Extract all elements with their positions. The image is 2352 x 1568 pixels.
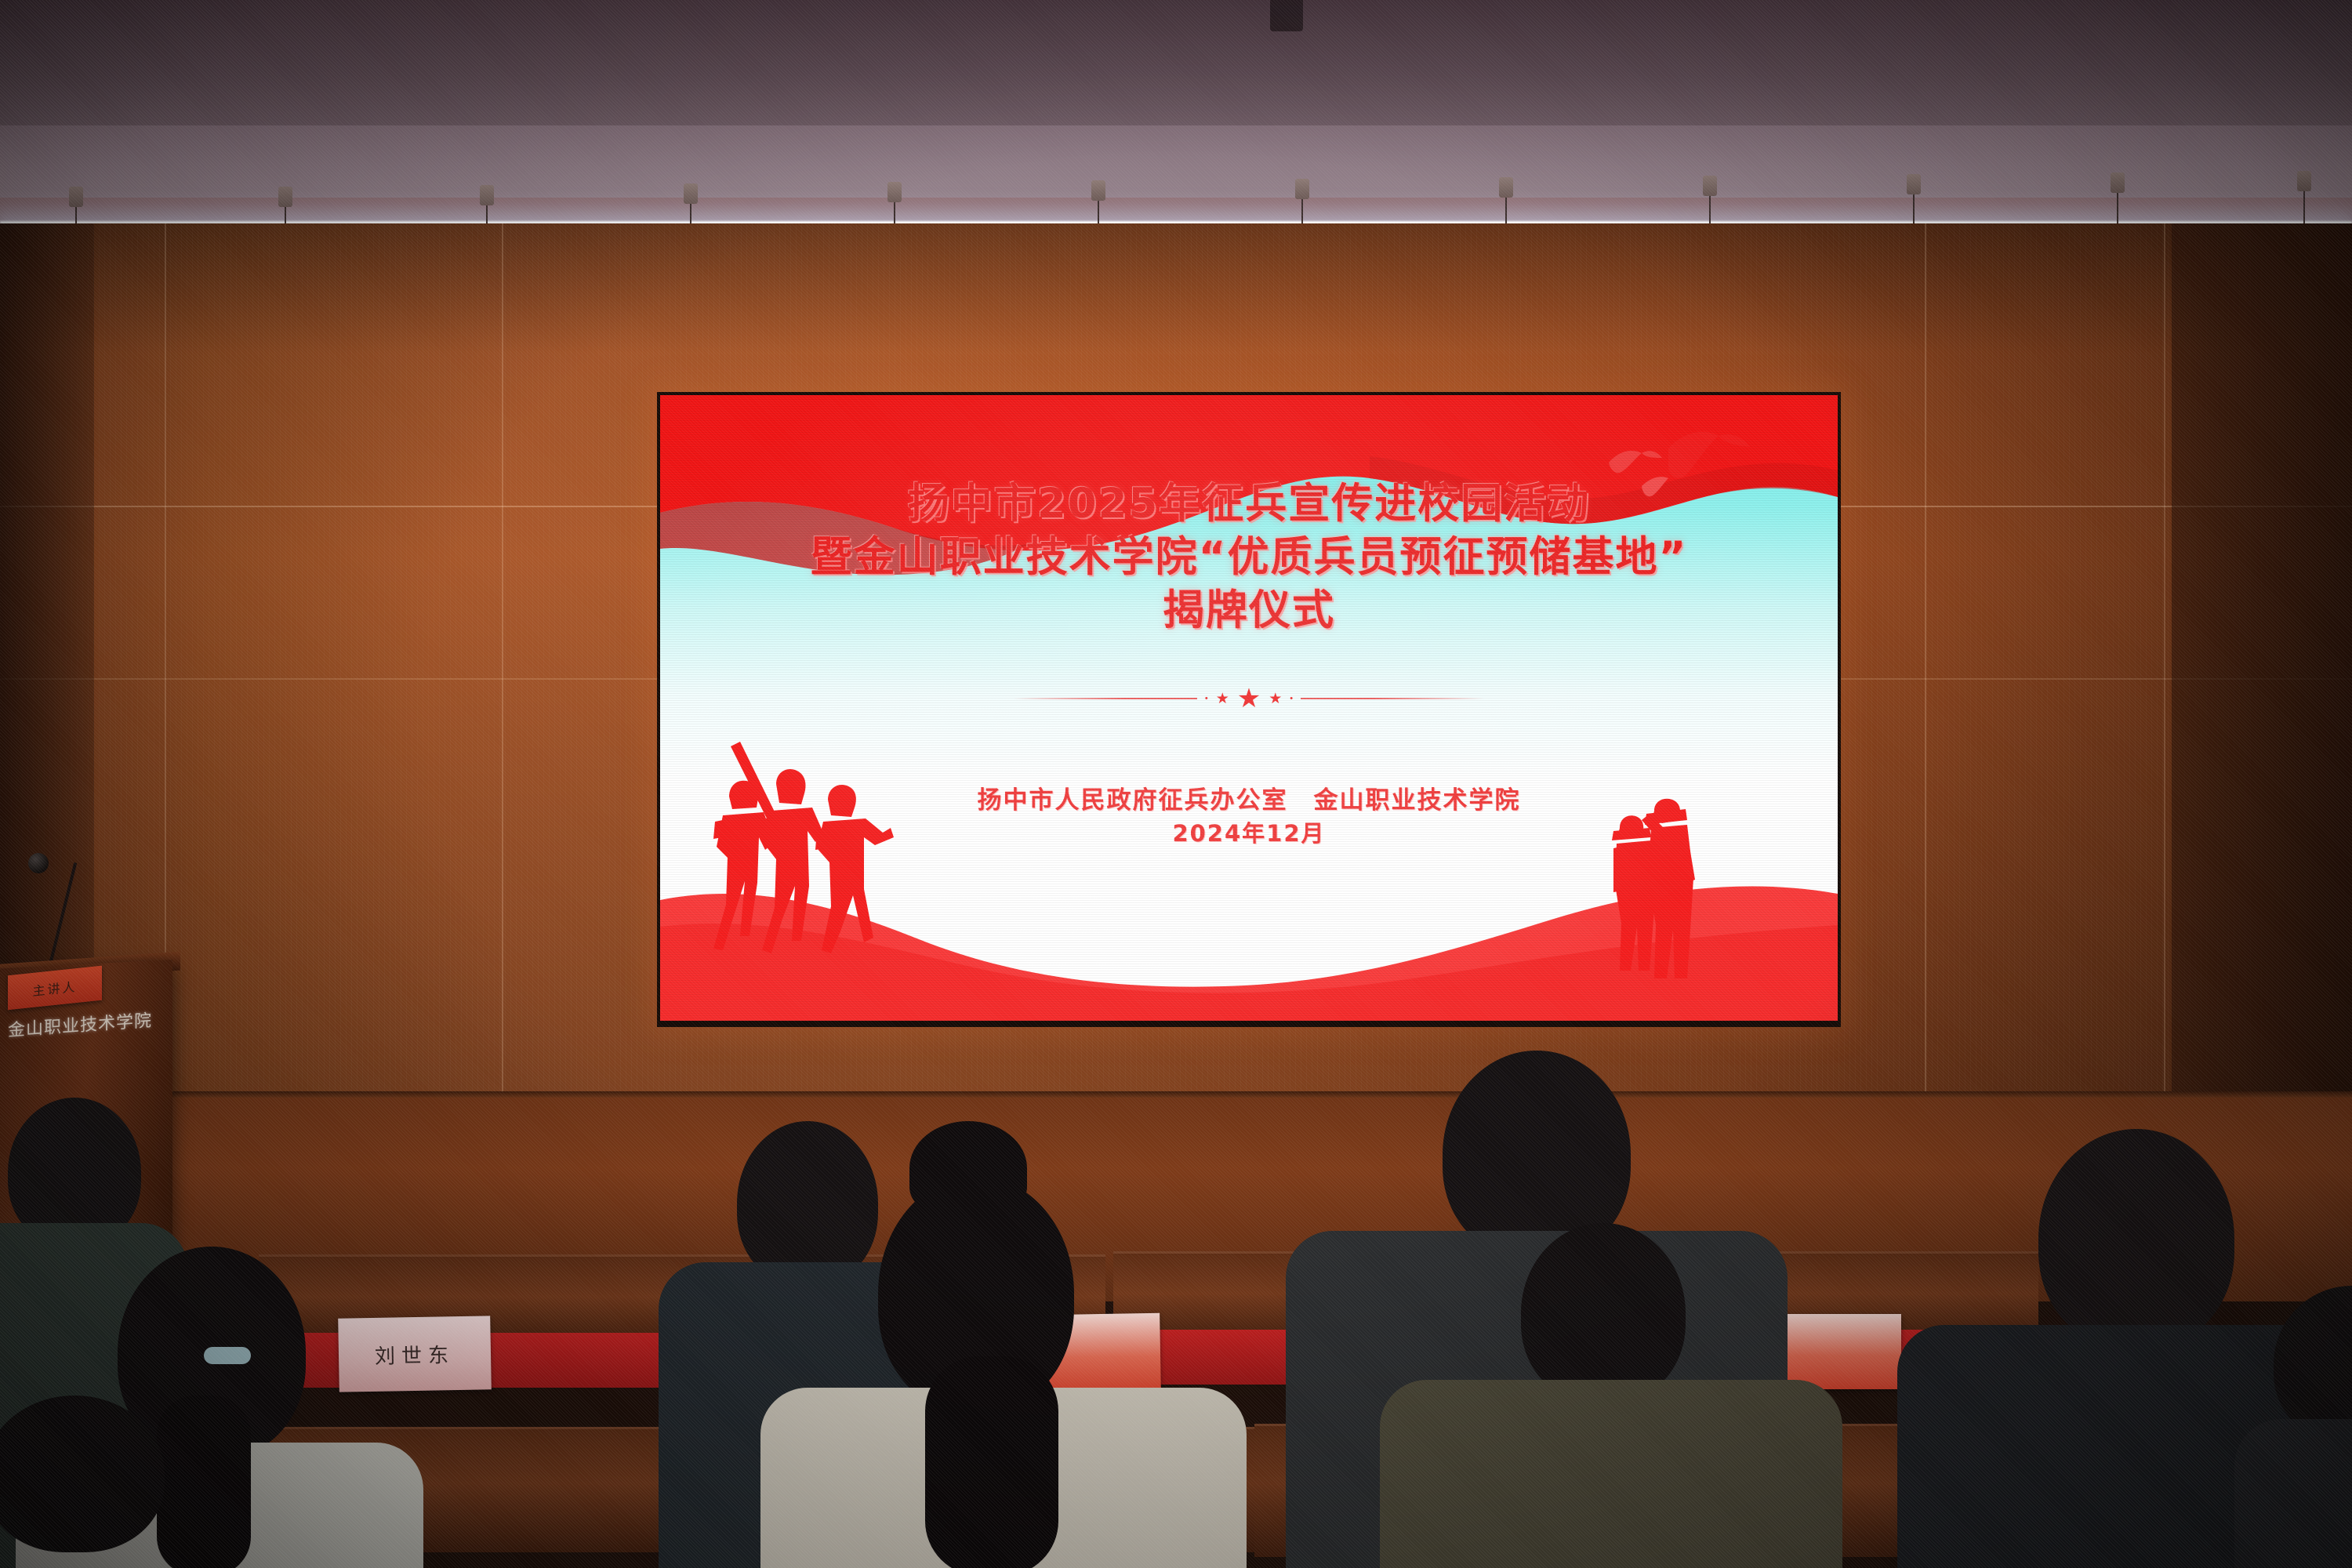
- microphone-head-icon: [28, 853, 49, 873]
- screen-title-line-3: 揭牌仪式: [660, 584, 1838, 637]
- audience-person-6: [1403, 1223, 1811, 1568]
- led-screen-frame: 扬中市2025年征兵宣传进校园活动 暨金山职业技术学院“优质兵员预征预储基地” …: [657, 392, 1841, 1027]
- audience-person-9: [0, 1396, 220, 1568]
- wall-shadow-right: [2172, 223, 2352, 1149]
- person-head: [1521, 1223, 1686, 1403]
- led-screen[interactable]: 扬中市2025年征兵宣传进校园活动 暨金山职业技术学院“优质兵员预征预储基地” …: [660, 395, 1838, 1021]
- divider-star-center: ★: [1237, 685, 1261, 712]
- person-hair-bun: [909, 1121, 1027, 1215]
- person-ponytail: [925, 1356, 1058, 1568]
- person-body: [2234, 1419, 2352, 1568]
- wall-seam-vertical-2: [502, 223, 503, 1149]
- divider-dot-left: •: [1205, 695, 1208, 703]
- saluting-soldiers-silhouette-right: [1593, 792, 1726, 1004]
- audience-person-4: [792, 1176, 1200, 1568]
- divider-star-right: ★: [1269, 691, 1282, 706]
- wall-seam-vertical-3: [1925, 223, 1926, 1149]
- marching-soldiers-silhouette-left: [677, 740, 936, 1007]
- star-divider: • ★ ★ ★ •: [1014, 685, 1484, 712]
- divider-dot-right: •: [1290, 695, 1293, 703]
- ceiling-vent: [1270, 0, 1303, 31]
- divider-star-left: ★: [1216, 691, 1229, 706]
- audience-person-8: [2258, 1286, 2352, 1568]
- screen-title: 扬中市2025年征兵宣传进校园活动 暨金山职业技术学院“优质兵员预征预储基地” …: [660, 477, 1838, 637]
- screen-title-line-2: 暨金山职业技术学院“优质兵员预征预储基地”: [660, 531, 1838, 584]
- person-head: [2038, 1129, 2234, 1348]
- divider-line-right: [1301, 698, 1484, 699]
- auditorium-photo: 扬中市2025年征兵宣传进校园活动 暨金山职业技术学院“优质兵员预征预储基地” …: [0, 0, 2352, 1568]
- ceiling-upper-slab: [0, 0, 2352, 125]
- podium-name-card-text: 主讲人: [32, 976, 77, 1000]
- divider-line-left: [1014, 698, 1197, 699]
- person-body: [1380, 1380, 1842, 1568]
- screen-title-line-1: 扬中市2025年征兵宣传进校园活动: [660, 477, 1838, 531]
- person-head: [0, 1396, 165, 1552]
- hair-tie: [204, 1347, 251, 1364]
- wall-seam-vertical-4: [2164, 223, 2165, 1149]
